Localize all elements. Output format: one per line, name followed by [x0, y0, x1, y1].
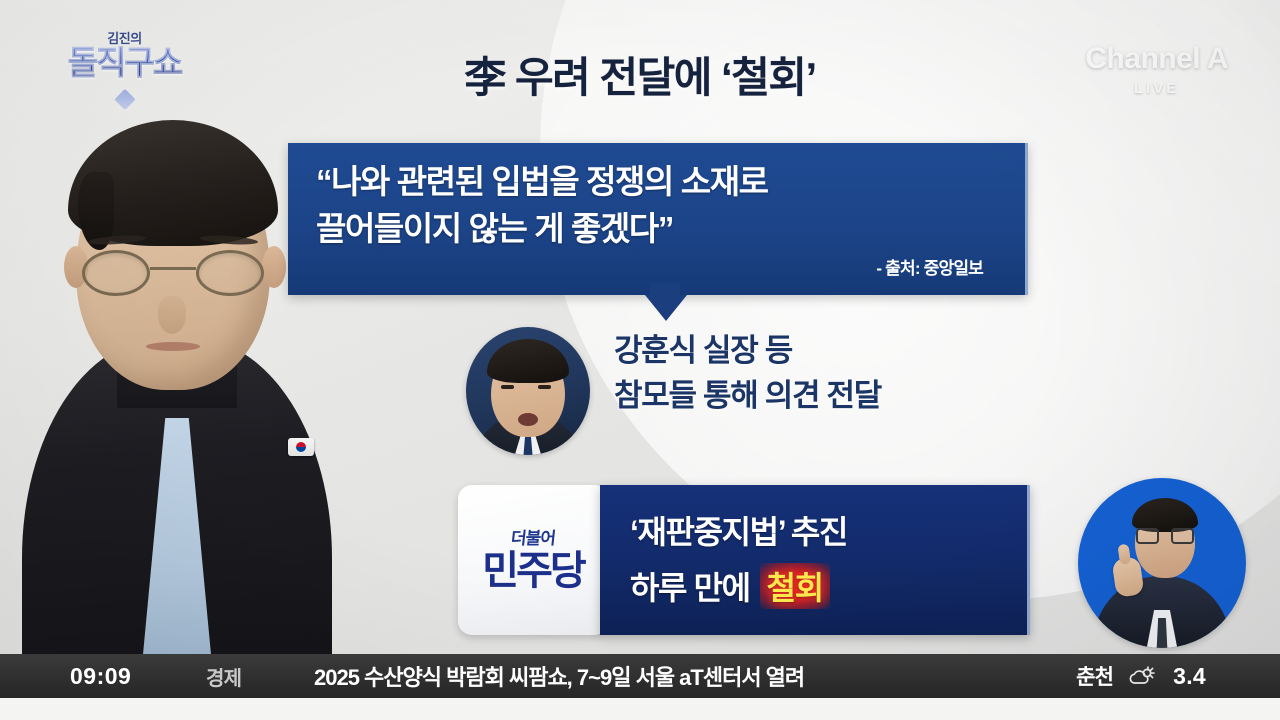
withdrawal-highlight: 철회	[760, 563, 830, 609]
party-logo-title: 민주당	[482, 551, 583, 591]
live-badge: LIVE	[1085, 80, 1228, 97]
quote-card: “나와 관련된 입법을 정쟁의 소재로 끌어들이지 않는 게 좋겠다” - 출처…	[288, 143, 1028, 295]
sign-language-interpreter	[1078, 478, 1246, 648]
letterbox-bar	[0, 698, 1280, 720]
sun-behind-cloud-icon	[1126, 664, 1156, 688]
middle-line-2: 참모들 통해 의견 전달	[614, 374, 881, 419]
glasses-icon	[82, 250, 264, 296]
ticker-weather: 춘천 3.4	[1076, 661, 1206, 691]
bottom-line-2-prefix: 하루 만에	[630, 570, 750, 606]
interpreter-glasses-icon	[1136, 528, 1194, 544]
subject-shirt	[128, 418, 226, 668]
middle-section-text: 강훈식 실장 등 참모들 통해 의견 전달	[614, 329, 881, 419]
party-logo-subtitle: 더불어	[510, 530, 556, 547]
news-ticker: 09:09 경제 2025 수산양식 박람회 씨팜쇼, 7~9일 서울 aT센터…	[0, 654, 1280, 698]
kang-hun-sik-avatar	[466, 327, 590, 455]
subject-hair	[68, 120, 278, 246]
show-logo-title: 돌직구쇼	[52, 46, 197, 81]
ticker-headline: 2025 수산양식 박람회 씨팜쇼, 7~9일 서울 aT센터서 열려	[314, 660, 804, 692]
broadcast-screen: 김진의 돌직구쇼 李 우려 전달에 ‘철회’ Channel A LIVE	[0, 0, 1280, 720]
avatar-eye-left	[501, 385, 514, 389]
glasses-lens-right	[196, 250, 264, 296]
glasses-bridge	[150, 267, 196, 270]
bottom-card: ‘재판중지법’ 추진 하루 만에철회	[600, 485, 1030, 635]
interpreter-lens-right	[1171, 528, 1194, 544]
subject-mouth	[146, 342, 200, 351]
quote-source: - 출처: 중앙일보	[876, 254, 983, 279]
interpreter-hair	[1132, 498, 1198, 532]
ticker-category: 경제	[206, 662, 258, 691]
quote-text: “나와 관련된 입법을 정쟁의 소재로 끌어들이지 않는 게 좋겠다”	[316, 159, 1007, 253]
channel-name: Channel A	[1085, 44, 1228, 74]
ticker-clock: 09:09	[70, 663, 150, 690]
avatar-eye-right	[538, 385, 551, 389]
arrow-down-icon	[645, 295, 687, 321]
middle-section: 강훈식 실장 등 참모들 통해 의견 전달	[466, 327, 1026, 459]
quote-line-1: “나와 관련된 입법을 정쟁의 소재로	[316, 159, 1007, 206]
avatar-mouth	[518, 413, 538, 426]
bottom-line-2: 하루 만에철회	[630, 563, 830, 609]
subject-nose	[158, 296, 186, 334]
quote-line-2: 끌어들이지 않는 게 좋겠다”	[316, 206, 1007, 253]
interpreter-lens-left	[1136, 528, 1159, 544]
bottom-line-1: ‘재판중지법’ 추진	[630, 507, 847, 553]
weather-city: 춘천	[1076, 661, 1113, 691]
avatar-hair	[487, 339, 569, 383]
glasses-lens-left	[82, 250, 150, 296]
weather-temperature: 3.4	[1173, 663, 1206, 690]
democratic-party-logo: 더불어 민주당	[458, 485, 608, 635]
show-logo: 김진의 돌직구쇼	[52, 32, 197, 100]
middle-line-1: 강훈식 실장 등	[614, 329, 881, 374]
subject-ear-right	[262, 246, 286, 288]
channel-logo: Channel A LIVE	[1085, 44, 1228, 97]
korean-flag-pin-icon	[288, 438, 314, 456]
